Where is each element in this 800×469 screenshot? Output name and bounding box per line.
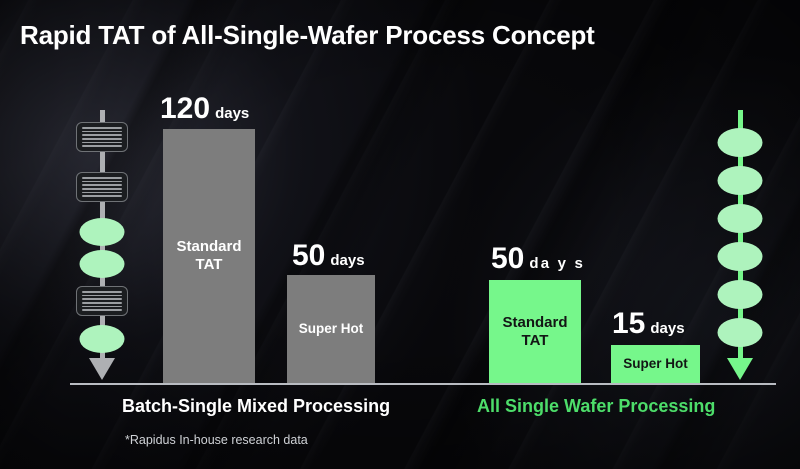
all-single-wafer-flow xyxy=(700,110,780,385)
bar-value-number: 50 xyxy=(491,242,524,275)
bar-value-single-super-hot: 15days xyxy=(612,307,685,341)
bar-value-single-standard-tat: 50da y s xyxy=(491,242,585,276)
bar-inner-label: Super Hot xyxy=(623,356,688,372)
baseline-axis xyxy=(70,383,776,385)
flow-arrow-head-icon xyxy=(89,358,115,380)
cassette-icon xyxy=(76,122,128,152)
wafer-icon xyxy=(718,242,763,271)
wafer-icon xyxy=(718,128,763,157)
group-label-batch: Batch-Single Mixed Processing xyxy=(122,396,390,417)
footnote: *Rapidus In-house research data xyxy=(125,433,308,447)
bar-inner-label: Standard TAT xyxy=(502,314,567,349)
page-title: Rapid TAT of All-Single-Wafer Process Co… xyxy=(20,20,595,51)
bar-value-number: 15 xyxy=(612,307,645,340)
batch-single-mixed-flow xyxy=(62,110,142,385)
bar-value-unit: da y s xyxy=(529,255,585,272)
bar-value-batch-standard-tat: 120days xyxy=(160,92,249,126)
bar-value-unit: days xyxy=(215,105,249,122)
wafer-icon xyxy=(80,325,125,353)
bar-value-unit: days xyxy=(330,252,364,269)
slide-canvas: Rapid TAT of All-Single-Wafer Process Co… xyxy=(0,0,800,469)
wafer-icon xyxy=(718,166,763,195)
cassette-icon xyxy=(76,172,128,202)
wafer-icon xyxy=(718,204,763,233)
bar-value-batch-super-hot: 50days xyxy=(292,239,365,273)
wafer-icon xyxy=(718,318,763,347)
bar-inner-label: Super Hot xyxy=(299,321,364,337)
cassette-icon xyxy=(76,286,128,316)
bar-single-standard-tat[interactable]: Standard TAT xyxy=(489,280,581,383)
wafer-icon xyxy=(80,218,125,246)
wafer-icon xyxy=(718,280,763,309)
flow-arrow-head-icon xyxy=(727,358,753,380)
bar-batch-super-hot[interactable]: Super Hot xyxy=(287,275,375,383)
bar-value-number: 120 xyxy=(160,92,210,125)
bar-batch-standard-tat[interactable]: Standard TAT xyxy=(163,129,255,383)
group-label-single: All Single Wafer Processing xyxy=(477,396,715,417)
bar-value-unit: days xyxy=(650,320,684,337)
wafer-icon xyxy=(80,250,125,278)
bar-value-number: 50 xyxy=(292,239,325,272)
bar-single-super-hot[interactable]: Super Hot xyxy=(611,345,700,383)
bar-inner-label: Standard TAT xyxy=(176,238,241,273)
